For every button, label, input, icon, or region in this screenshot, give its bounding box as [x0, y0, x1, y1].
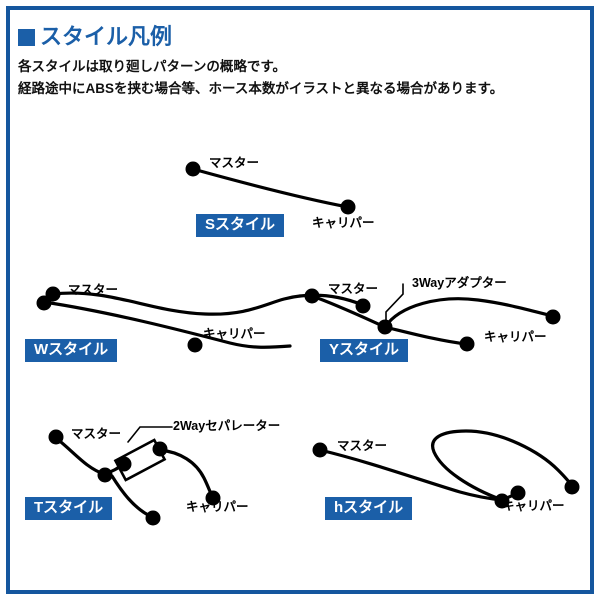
- h-style-hose-master: [320, 450, 502, 500]
- h-style-caliper-node-3: [565, 480, 580, 495]
- h-style-master-node: [313, 443, 328, 458]
- content-area: スタイル凡例 各スタイルは取り廻しパターンの概略です。 経路途中にABSを挟む場…: [0, 0, 600, 600]
- h-style-caliper-label: キャリパー: [502, 500, 565, 513]
- h-style-master-label: マスター: [337, 440, 387, 453]
- badge-h-style[interactable]: hスタイル: [325, 497, 412, 520]
- style-legend-page: スタイル凡例 各スタイルは取り廻しパターンの概略です。 経路途中にABSを挟む場…: [0, 0, 600, 600]
